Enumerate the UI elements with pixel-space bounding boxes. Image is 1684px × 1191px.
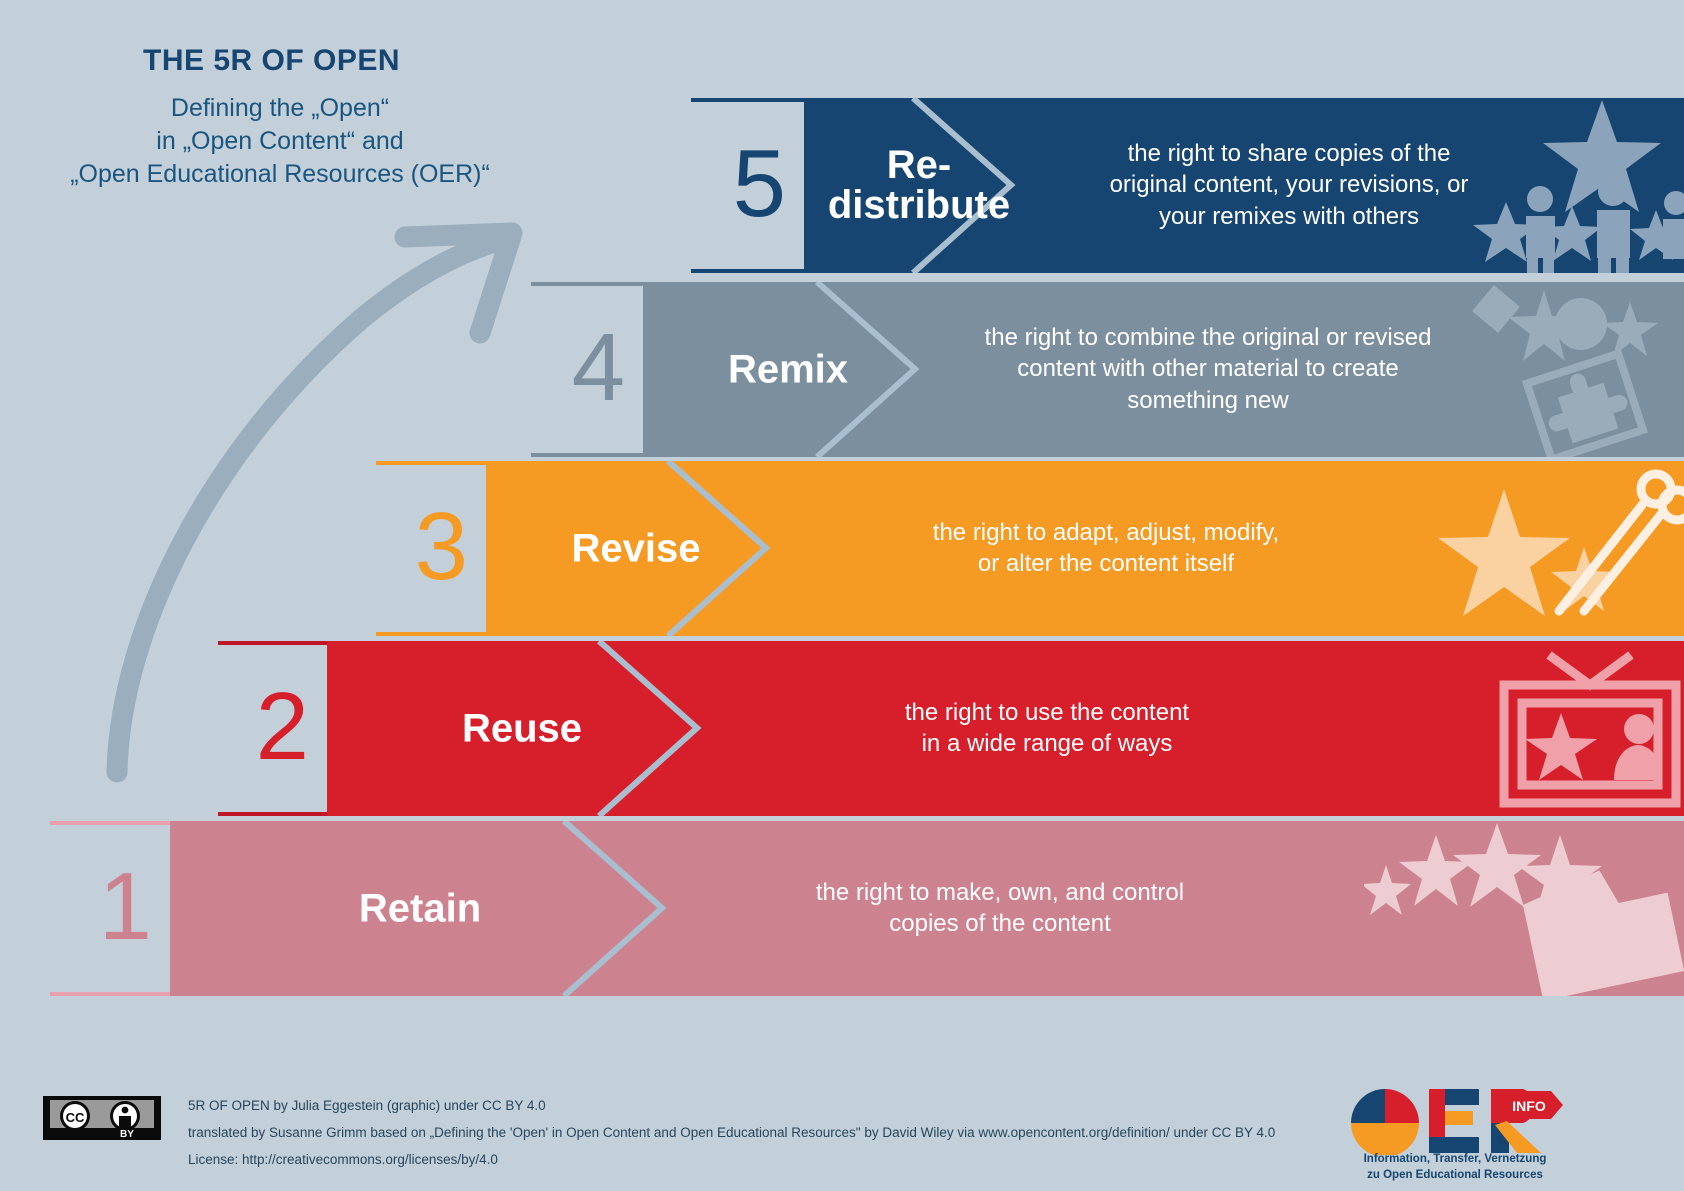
credit-line-1: 5R OF OPEN by Julia Eggestein (graphic) … (188, 1092, 1275, 1119)
number-rule-top (218, 641, 327, 645)
desc-line-1: the right to adapt, adjust, modify, (806, 517, 1406, 549)
picture-frame-icon (1434, 641, 1684, 816)
step-description: the right to use the content in a wide r… (737, 697, 1357, 761)
number-rule-bottom (376, 632, 486, 636)
scissors-and-star-icon (1434, 461, 1684, 636)
row-retain: 1 Retain the right (40, 821, 1684, 996)
desc-line-2: original content, your revisions, or (1044, 170, 1534, 202)
step-label-line-1: Re- (887, 143, 951, 187)
step-number-cell-4: 4 (521, 282, 643, 457)
step-label-line-1: Revise (572, 526, 701, 570)
puzzle-shapes-icon (1434, 282, 1684, 457)
step-description: the right to adapt, adjust, modify, or a… (806, 517, 1406, 581)
step-number-cell-2: 2 (208, 641, 327, 816)
step-label-line-1: Retain (359, 886, 481, 930)
svg-text:INFO: INFO (1512, 1098, 1546, 1114)
number-rule-top (691, 98, 804, 102)
subtitle-line-3: „Open Educational Resources (OER)“ (0, 158, 560, 191)
step-bar-remix[interactable]: Remix the right to combine the original … (643, 282, 1684, 457)
step-label: Remix (643, 349, 933, 390)
folder-and-stars-icon (1364, 821, 1684, 996)
step-description: the right to make, own, and control copi… (690, 877, 1310, 941)
step-number-cell-3: 3 (366, 461, 486, 636)
step-number-cell-5: 5 (681, 98, 804, 273)
step-bar-revise[interactable]: Revise the right to adapt, adjust, modif… (486, 461, 1684, 636)
step-label-line-1: Reuse (462, 706, 582, 750)
step-number: 2 (256, 679, 309, 775)
row-remix: 4 Remix (521, 282, 1684, 457)
page-subtitle: Defining the „Open“ in „Open Content“ an… (0, 92, 560, 191)
subtitle-line-1: Defining the „Open“ (0, 92, 560, 125)
step-label: Reuse (327, 708, 717, 749)
desc-line-1: the right to share copies of the (1044, 138, 1534, 170)
desc-line-2: in a wide range of ways (737, 729, 1357, 761)
credit-line-3: License: http://creativecommons.org/lice… (188, 1146, 1275, 1173)
desc-line-1: the right to use the content (737, 697, 1357, 729)
step-label-line-1: Remix (728, 347, 848, 391)
step-label: Revise (486, 528, 786, 569)
number-rule-bottom (531, 453, 643, 457)
desc-line-3: something new (948, 385, 1468, 417)
credits-block: 5R OF OPEN by Julia Eggestein (graphic) … (188, 1092, 1275, 1173)
svg-text:BY: BY (120, 1129, 134, 1140)
credit-line-2: translated by Susanne Grimm based on „De… (188, 1119, 1275, 1146)
desc-line-1: the right to make, own, and control (690, 877, 1310, 909)
tagline-line-2: zu Open Educational Resources (1345, 1168, 1565, 1184)
number-rule-bottom (50, 992, 170, 996)
step-number-cell-1: 1 (40, 821, 170, 996)
step-description: the right to combine the original or rev… (948, 322, 1468, 418)
desc-line-2: copies of the content (690, 909, 1310, 941)
number-rule-top (376, 461, 486, 465)
step-label-line-2: distribute (828, 184, 1010, 228)
desc-line-2: or alter the content itself (806, 549, 1406, 581)
tagline-line-1: Information, Transfer, Vernetzung (1345, 1152, 1565, 1168)
number-rule-top (50, 821, 170, 825)
step-bar-redistribute[interactable]: Re- distribute the right to share copies… (804, 98, 1684, 273)
infographic-canvas: THE 5R OF OPEN Defining the „Open“ in „O… (0, 0, 1684, 1191)
desc-line-2: content with other material to create (948, 354, 1468, 386)
oer-logo-tagline: Information, Transfer, Vernetzung zu Ope… (1345, 1152, 1565, 1184)
step-number: 4 (572, 320, 625, 416)
desc-line-3: your remixes with others (1044, 201, 1534, 233)
subtitle-line-2: in „Open Content“ and (0, 125, 560, 158)
number-rule-bottom (218, 812, 327, 816)
oer-info-logo[interactable]: INFO (1345, 1085, 1565, 1155)
desc-line-1: the right to combine the original or rev… (948, 322, 1468, 354)
row-reuse: 2 Reuse the ri (208, 641, 1684, 816)
number-rule-top (531, 282, 643, 286)
row-revise: 3 Revise the right to adapt, adjust, (366, 461, 1684, 636)
step-label: Retain (170, 888, 670, 929)
step-number: 5 (733, 136, 786, 232)
step-bar-retain[interactable]: Retain the right to make, own, and contr… (170, 821, 1684, 996)
row-redistribute: 5 Re- distrib (681, 98, 1684, 273)
cc-by-license-badge[interactable]: CC BY (43, 1096, 161, 1140)
number-rule-bottom (691, 269, 804, 273)
step-bar-reuse[interactable]: Reuse the right to use the content in a … (327, 641, 1684, 816)
step-number: 1 (99, 859, 152, 955)
svg-text:CC: CC (66, 1110, 85, 1125)
page-title: THE 5R OF OPEN (143, 44, 400, 78)
step-description: the right to share copies of the origina… (1044, 138, 1534, 234)
step-label: Re- distribute (804, 145, 1034, 227)
step-number: 3 (415, 499, 468, 595)
